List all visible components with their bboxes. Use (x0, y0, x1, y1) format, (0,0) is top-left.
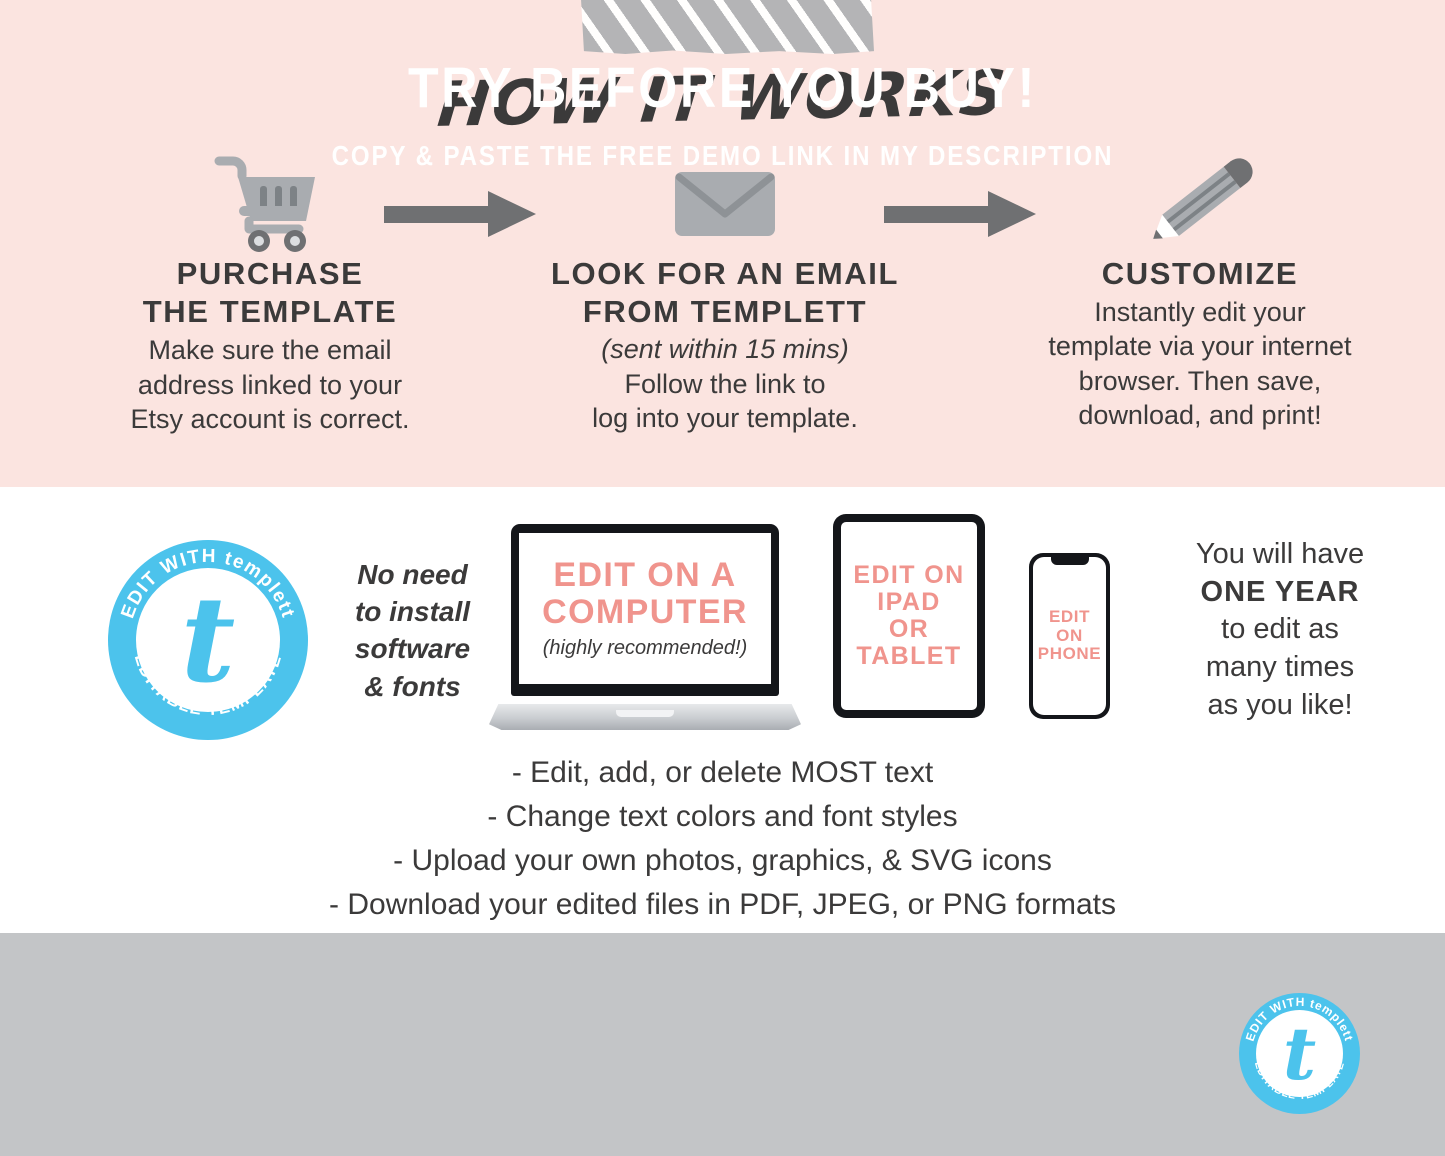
laptop-headline-line1: EDIT ON A (542, 557, 748, 594)
svg-text:EDIT WITH templett: EDIT WITH templett (1243, 995, 1356, 1043)
no-need-line3: software (330, 630, 495, 667)
laptop-lid: EDIT ON A COMPUTER (highly recommended!) (511, 524, 779, 696)
features-list: - Edit, add, or delete MOST text - Chang… (0, 751, 1445, 927)
phone-headline-line2: ON (1038, 627, 1101, 645)
step-body-line1: Follow the link to (510, 367, 940, 401)
laptop-base (489, 704, 801, 730)
no-need-line2: to install (330, 593, 495, 630)
tablet-mockup: EDIT ON IPAD OR TABLET (833, 514, 985, 718)
step-body-line1: Instantly edit your (980, 295, 1420, 329)
list-item: - Upload your own photos, graphics, & SV… (0, 839, 1445, 883)
one-year-text: You will have ONE YEAR to edit as many t… (1130, 536, 1430, 724)
no-need-to-install-text: No need to install software & fonts (330, 556, 495, 705)
step-italic-note: (sent within 15 mins) (510, 333, 940, 367)
laptop-mockup: EDIT ON A COMPUTER (highly recommended!) (489, 524, 801, 730)
laptop-screen: EDIT ON A COMPUTER (highly recommended!) (519, 533, 771, 684)
step-heading-line2: THE TEMPLATE (60, 293, 480, 331)
laptop-base-notch (616, 710, 674, 717)
svg-text:EDIT WITH templett: EDIT WITH templett (117, 546, 298, 621)
try-before-you-buy-banner (0, 933, 1445, 1156)
no-need-line1: No need (330, 556, 495, 593)
phone-headline-line1: EDIT (1038, 608, 1101, 626)
step-heading-line2: FROM TEMPLETT (510, 293, 940, 331)
badge-bottom-text: EDITABLE TEMPLATE (1252, 1060, 1347, 1102)
one-year-line1: You will have (1130, 536, 1430, 574)
step-body-line2: address linked to your (60, 368, 480, 402)
step-body-line4: download, and print! (980, 398, 1420, 432)
step-body-line2: log into your template. (510, 401, 940, 435)
phone-mockup: EDIT ON PHONE (1029, 553, 1110, 719)
phone-screen: EDIT ON PHONE (1033, 557, 1106, 715)
phone-headline-line3: PHONE (1038, 645, 1101, 663)
one-year-line5: as you like! (1130, 687, 1430, 725)
step-look-for-email: LOOK FOR AN EMAIL FROM TEMPLETT (sent wi… (510, 150, 940, 436)
tablet-headline-line2: IPAD (853, 589, 964, 616)
steps-row: PURCHASE THE TEMPLATE Make sure the emai… (0, 150, 1445, 480)
one-year-line3: to edit as (1130, 611, 1430, 649)
step-purchase: PURCHASE THE TEMPLATE Make sure the emai… (60, 150, 480, 436)
phone-headline: EDIT ON PHONE (1038, 608, 1101, 663)
tablet-headline-line3: OR (853, 616, 964, 643)
templett-badge-logo: t EDIT WITH templett EDITABLE TEMPLATE (108, 540, 308, 740)
step-heading-line1: LOOK FOR AN EMAIL (510, 255, 940, 293)
svg-text:EDITABLE TEMPLATE: EDITABLE TEMPLATE (131, 652, 286, 720)
list-item: - Change text colors and font styles (0, 795, 1445, 839)
footer-subtitle: COPY & PASTE THE FREE DEMO LINK IN MY DE… (101, 140, 1344, 172)
badge-top-text: EDIT WITH templett (1243, 995, 1356, 1043)
tablet-screen: EDIT ON IPAD OR TABLET (841, 522, 977, 710)
list-item: - Download your edited files in PDF, JPE… (0, 883, 1445, 927)
step-body-line3: browser. Then save, (980, 364, 1420, 398)
list-item: - Edit, add, or delete MOST text (0, 751, 1445, 795)
step-body-line3: Etsy account is correct. (60, 402, 480, 436)
one-year-line4: many times (1130, 649, 1430, 687)
tablet-headline-line4: TABLET (853, 643, 964, 670)
step-heading-line1: PURCHASE (60, 255, 480, 293)
step-body-line1: Make sure the email (60, 333, 480, 367)
no-need-line4: & fonts (330, 668, 495, 705)
phone-notch (1051, 557, 1089, 565)
svg-text:EDITABLE TEMPLATE: EDITABLE TEMPLATE (1252, 1060, 1347, 1102)
tablet-headline-line1: EDIT ON (853, 562, 964, 589)
badge-top-text: EDIT WITH templett (117, 546, 298, 621)
badge-bottom-text: EDITABLE TEMPLATE (131, 652, 286, 720)
step-body-line2: template via your internet (980, 329, 1420, 363)
step-heading-line1: CUSTOMIZE (980, 255, 1420, 293)
laptop-headline-line2: COMPUTER (542, 594, 748, 631)
step-customize: CUSTOMIZE Instantly edit your template v… (980, 150, 1420, 432)
one-year-highlight: ONE YEAR (1130, 574, 1430, 612)
laptop-headline: EDIT ON A COMPUTER (542, 557, 748, 630)
templett-badge-logo-footer: t EDIT WITH templett EDITABLE TEMPLATE (1239, 993, 1360, 1114)
tablet-headline: EDIT ON IPAD OR TABLET (853, 562, 964, 670)
washi-tape-decoration (578, 0, 874, 54)
footer-title: TRY BEFORE YOU BUY! (87, 55, 1359, 121)
laptop-note: (highly recommended!) (543, 637, 748, 660)
